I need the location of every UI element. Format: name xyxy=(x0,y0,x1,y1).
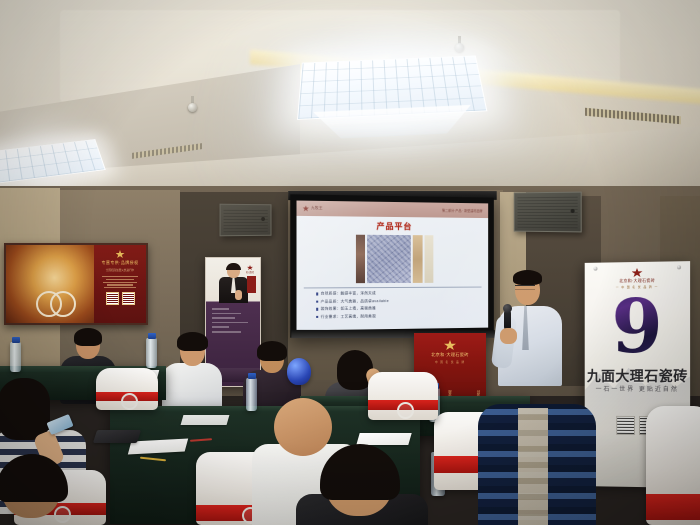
poster-text-panel: 专营专供·品牌授权 全国招商加盟火热进行中 xyxy=(94,245,146,323)
slide-body: 产品平台 自然质感：触感丰富，浑然天成 产品品质：大气典雅，品质卓a xyxy=(297,216,489,331)
banner-line xyxy=(212,322,248,324)
attendee-scarf xyxy=(518,408,548,525)
chair-back-left[interactable] xyxy=(96,368,158,410)
qr-code-icon xyxy=(616,416,635,435)
poster-line xyxy=(107,284,132,285)
banner-line xyxy=(212,331,241,333)
bullet-text: 产品品质：大气典雅，品质卓available xyxy=(321,299,389,305)
poster-line xyxy=(104,287,135,288)
tile-sample-wood-grain xyxy=(355,235,364,283)
presenter-hair xyxy=(513,270,542,285)
attendee-hair xyxy=(74,328,102,346)
banner-red-accent-box xyxy=(247,276,256,293)
podium-brand-tagline: 中 国 名 优 品 牌 xyxy=(414,360,486,364)
bullet-text: 装饰效果：如玉上墙，高端典雅 xyxy=(321,306,376,312)
bicycle-wheel-front xyxy=(50,291,76,317)
attendee-front-center-foreground xyxy=(296,450,428,525)
presenter-glasses-icon xyxy=(515,285,535,290)
banner-line xyxy=(212,326,229,328)
speaker-grill-right xyxy=(517,196,577,229)
banner-logo-mark-icon xyxy=(632,268,643,277)
presenter-hand xyxy=(500,328,517,344)
banner-line xyxy=(212,313,241,315)
tile-sample-beige xyxy=(424,235,433,283)
attendee-striped-right xyxy=(478,378,596,525)
chair-far-right[interactable] xyxy=(646,406,700,525)
list-item: 装饰效果：如玉上墙，高端典雅 xyxy=(316,305,470,312)
attendee-torso xyxy=(162,363,222,411)
balloon-decoration xyxy=(287,358,311,385)
attendee-hair xyxy=(257,341,287,361)
projection-screen[interactable]: 九牧王 第二部分·产品 · 新型建材品牌 产品平台 自然质感：触感丰富，浑然天成 xyxy=(290,194,494,337)
bullet-text: 自然质感：触感丰富，浑然天成 xyxy=(321,291,376,296)
poster-qr-codes xyxy=(97,292,143,305)
attendee-hair xyxy=(177,332,208,351)
microphone[interactable] xyxy=(504,310,511,330)
poster-text-lines xyxy=(97,276,143,288)
chair-sash-buckle xyxy=(121,393,138,410)
handout-paper[interactable] xyxy=(181,415,230,425)
qr-code-icon xyxy=(106,292,119,305)
banner-line xyxy=(212,317,235,319)
water-bottle[interactable] xyxy=(146,338,157,368)
banner-logo: 和·瓷砖 xyxy=(243,265,257,274)
poster-logo-mark-icon xyxy=(116,250,125,258)
bicycle-icon xyxy=(36,287,76,317)
speaker-tweeter-right xyxy=(571,209,575,213)
wall-speaker-right xyxy=(514,192,582,233)
list-item: 自然质感：触感丰富，浑然天成 xyxy=(316,291,470,297)
bottle-cap xyxy=(148,333,156,339)
presenter xyxy=(492,266,570,384)
bottle-cap xyxy=(12,337,20,343)
banner-logo-text: 和·瓷砖 xyxy=(243,270,257,274)
tablet-device[interactable] xyxy=(93,430,141,443)
water-bottle[interactable] xyxy=(10,342,21,372)
attendee-hair xyxy=(0,454,68,502)
slide-tile-samples xyxy=(302,234,484,283)
wall-poster-left: 专营专供·品牌授权 全国招商加盟火热进行中 xyxy=(4,243,148,325)
banner-subheadline: 一石一世界 更贴近自然 xyxy=(585,384,690,393)
bottle-cap xyxy=(248,373,256,379)
chair-back-right[interactable] xyxy=(368,372,438,420)
poster-line xyxy=(102,276,138,277)
list-item: 行业需求：工艺高端，耐用美观 xyxy=(316,313,470,320)
attendee-hair-long xyxy=(0,378,50,440)
poster-line xyxy=(106,279,135,280)
poster-line xyxy=(103,282,136,283)
bullet-square-icon xyxy=(316,300,318,302)
attendee-hair xyxy=(320,444,400,500)
poster-title: 专营专供·品牌授权 xyxy=(97,260,143,266)
ceiling-chandelier-main xyxy=(297,55,487,119)
conference-room-photo: 九牧王 第二部分·产品 · 新型建材品牌 产品平台 自然质感：触感丰富，浑然天成 xyxy=(0,0,700,525)
attendee-front-far-left-foreground xyxy=(0,452,90,525)
sprinkler-head-left xyxy=(188,103,197,112)
banner-line xyxy=(212,308,229,310)
podium-brand-name: 北京和·大理石瓷砖 xyxy=(414,352,486,358)
list-item: 产品品质：大气典雅，品质卓available xyxy=(316,298,470,304)
podium-logo-mark-icon xyxy=(444,340,456,350)
chair-sash xyxy=(646,494,700,520)
tile-sample-sandstone xyxy=(412,235,422,283)
speaker-tweeter-left xyxy=(261,217,265,221)
bullet-square-icon xyxy=(316,308,318,310)
microphone-head-icon xyxy=(503,304,512,313)
poster-image-golden-bicycle xyxy=(6,245,94,323)
slide-header-right-text: 第二部分·产品 · 新型建材品牌 xyxy=(442,208,483,213)
wall-speaker-left xyxy=(220,204,272,237)
qr-code-icon xyxy=(122,292,135,305)
bullet-text: 行业需求：工艺高端，耐用美观 xyxy=(321,314,376,320)
bullet-square-icon xyxy=(316,293,318,295)
slide-brand-logo: 九牧王 xyxy=(303,205,323,211)
attendee-back-mid xyxy=(162,335,222,407)
tile-sample-marble-slab xyxy=(367,235,411,283)
portrait-thumb-hand xyxy=(235,290,242,300)
presentation-slide: 九牧王 第二部分·产品 · 新型建材品牌 产品平台 自然质感：触感丰富，浑然天成 xyxy=(297,201,489,331)
slide-divider xyxy=(304,287,482,289)
banner-numeral-nine: 9 xyxy=(585,289,690,364)
bullet-square-icon xyxy=(316,316,318,318)
portrait-hair xyxy=(226,263,241,270)
handout-paper[interactable] xyxy=(356,433,411,445)
slide-logo-mark-icon xyxy=(303,205,309,211)
slide-title: 产品平台 xyxy=(302,220,484,233)
chair-sash-buckle xyxy=(397,402,414,419)
poster-subtitle: 全国招商加盟火热进行中 xyxy=(97,268,143,272)
slide-bullet-list: 自然质感：触感丰富，浑然天成 产品品质：大气典雅，品质卓available 装饰… xyxy=(302,290,484,319)
slide-logo-text: 九牧王 xyxy=(311,206,323,211)
banner-body-text-lines xyxy=(212,308,254,333)
attendee-head-bald xyxy=(274,398,332,456)
